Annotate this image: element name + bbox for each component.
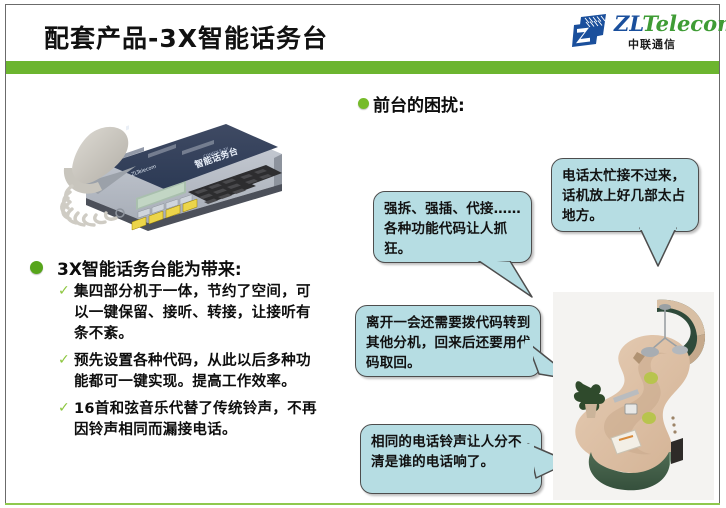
bullet-dot-icon: [30, 261, 43, 274]
logo-zl-text: ZL: [614, 11, 642, 36]
console-illustration-icon: ZLTelecom CONSOLE-3X 智能话务台: [28, 92, 298, 244]
checkmark-icon: ✓: [58, 353, 74, 367]
list-item: ✓ 集四部分机于一体，节约了空间，可以一键保留、接听、转接，让接听有条不紊。: [58, 282, 320, 345]
checkmark-icon: ✓: [58, 284, 74, 298]
logo-wordmark: ZLTelecom: [614, 13, 726, 35]
bullet-dot-icon: [358, 98, 369, 109]
list-item-text: 预先设置各种代码，从此以后多种功能都可一键实现。提高工作效率。: [74, 351, 320, 393]
zl-mark-icon: [572, 13, 612, 49]
reception-desk-photo: [553, 292, 714, 500]
reception-desk-illustration-icon: [553, 292, 714, 500]
list-item-text: 16首和弦音乐代替了传统铃声，不再因铃声相同而漏接电话。: [74, 399, 320, 441]
list-item: ✓ 预先设置各种代码，从此以后多种功能都可一键实现。提高工作效率。: [58, 351, 320, 393]
bubble-function-codes: 强拆、强插、代接……各种功能代码让人抓狂。: [373, 191, 532, 263]
list-item-text: 集四部分机于一体，节约了空间，可以一键保留、接听、转接，让接听有条不紊。: [74, 282, 320, 345]
frame-left-border: [5, 4, 6, 504]
bubble-text: 电话太忙接不过来，话机放上好几部太占地方。: [562, 166, 692, 226]
bubble-same-ringtone: 相同的电话铃声让人分不清是谁的电话响了。: [360, 424, 542, 494]
list-item: ✓ 16首和弦音乐代替了传统铃声，不再因铃声相同而漏接电话。: [58, 399, 320, 441]
logo-telecom-text: Telecom: [642, 11, 726, 36]
left-section-heading: 3X智能话务台能为带来:: [30, 255, 330, 280]
header-green-bar: [6, 61, 719, 74]
frame-bottom-border: [5, 503, 720, 505]
frame-right-border: [719, 4, 720, 504]
bubble-text: 强拆、强插、代接……各种功能代码让人抓狂。: [384, 199, 525, 259]
product-photo-console: ZLTelecom CONSOLE-3X 智能话务台: [28, 92, 298, 244]
benefits-list: ✓ 集四部分机于一体，节约了空间，可以一键保留、接听、转接，让接听有条不紊。 ✓…: [58, 282, 320, 447]
bubble-text: 相同的电话铃声让人分不清是谁的电话响了。: [371, 432, 535, 472]
slide-root: 配套产品-3X智能话务台 ZLTelecom 中联通信: [0, 0, 726, 508]
checkmark-icon: ✓: [58, 401, 74, 415]
bubble-transfer-codes: 离开一会还需要拨代码转到其他分机，回来后还要用代码取回。: [355, 305, 541, 377]
logo-chinese-text: 中联通信: [628, 36, 676, 52]
page-title: 配套产品-3X智能话务台: [44, 19, 328, 55]
bubble-text: 离开一会还需要拨代码转到其他分机，回来后还要用代码取回。: [366, 313, 534, 373]
bubble-too-busy: 电话太忙接不过来，话机放上好几部太占地方。: [551, 158, 699, 232]
brand-logo: ZLTelecom 中联通信: [572, 10, 712, 55]
bubble-too-busy-tail: [636, 224, 694, 272]
right-heading-text: 前台的困扰:: [373, 91, 465, 116]
right-section-heading: 前台的困扰:: [358, 91, 465, 116]
left-heading-text: 3X智能话务台能为带来:: [57, 255, 242, 280]
bubble-function-codes-tail: [470, 255, 540, 301]
